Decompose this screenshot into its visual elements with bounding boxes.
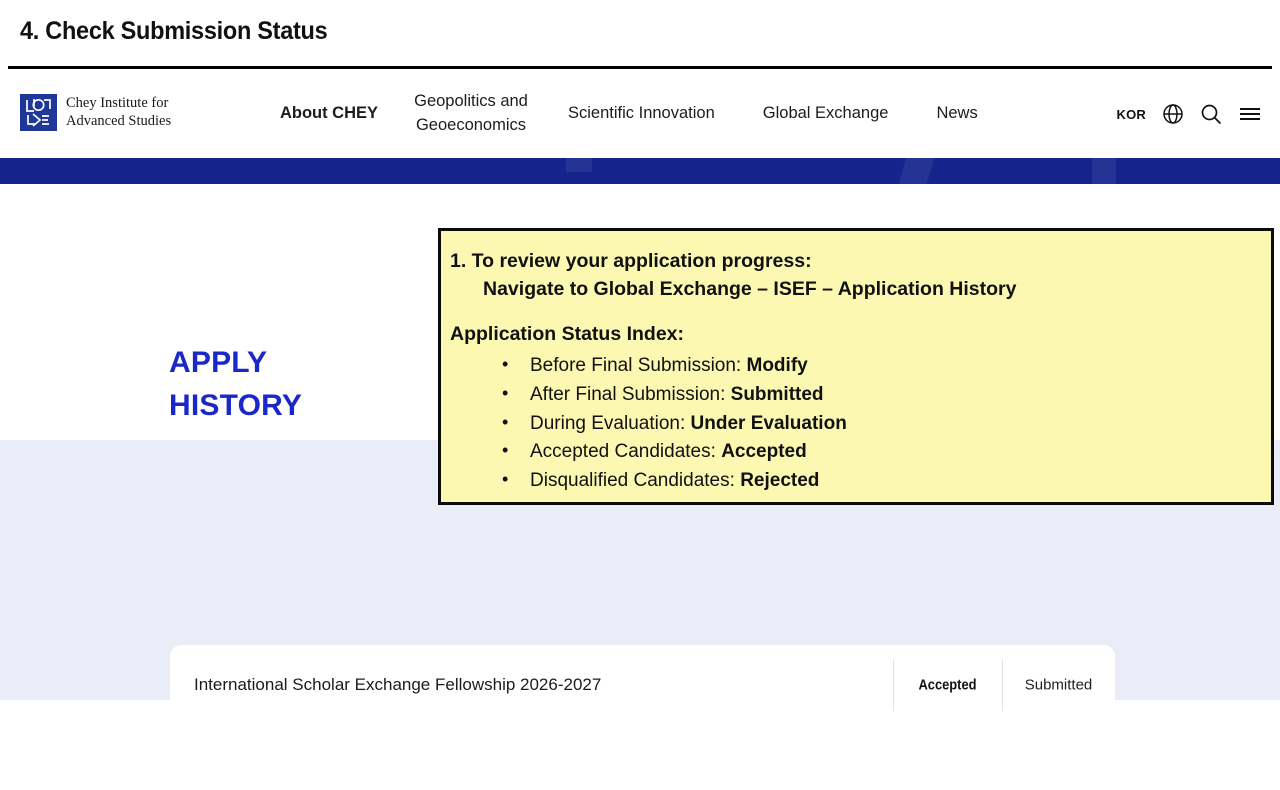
nav-item-scientific-innovation[interactable]: Scientific Innovation [568, 102, 715, 126]
application-title: International Scholar Exchange Fellowshi… [194, 675, 601, 695]
nav-item-news[interactable]: News [936, 102, 977, 126]
search-icon[interactable] [1200, 103, 1222, 125]
apply-history-line1: APPLY [169, 342, 302, 385]
page-title: 4. Check Submission Status [20, 17, 327, 46]
status-value: Submitted [731, 384, 824, 405]
list-item: Accepted Candidates: Accepted [502, 438, 1271, 467]
callout-step-line1: 1. To review your application progress: [450, 248, 1271, 276]
status-label: Before Final Submission: [530, 355, 747, 376]
slide-header: 4. Check Submission Status [0, 0, 1280, 68]
status-label: After Final Submission: [530, 384, 731, 405]
hamburger-menu-icon[interactable] [1238, 104, 1262, 124]
globe-icon[interactable] [1162, 103, 1184, 125]
status-label: Disqualified Candidates: [530, 470, 740, 491]
status-value: Under Evaluation [691, 413, 847, 434]
application-card[interactable]: International Scholar Exchange Fellowshi… [170, 645, 1115, 725]
page-bottom-strip [0, 770, 1280, 790]
status-value: Modify [747, 355, 808, 376]
nav-item-about-chey[interactable]: About CHEY [270, 102, 388, 126]
nav-item-geopolitics-and-geoeconomics[interactable]: Geopolitics and Geoeconomics [412, 90, 530, 138]
banner-shape [1092, 158, 1116, 184]
brand-name-line2: Advanced Studies [66, 113, 171, 130]
language-toggle-label[interactable]: KOR [1117, 107, 1147, 122]
primary-nav: About CHEY Geopolitics and Geoeconomics … [270, 70, 978, 158]
status-value: Rejected [740, 470, 819, 491]
banner-shape [898, 158, 936, 184]
status-label: Accepted Candidates: [530, 441, 721, 462]
card-divider [893, 659, 894, 711]
callout-step-line2: Navigate to Global Exchange – ISEF – App… [450, 276, 1271, 304]
status-label: During Evaluation: [530, 413, 691, 434]
status-badge: Submitted [1002, 677, 1115, 694]
callout-index-heading: Application Status Index: [450, 323, 1271, 346]
status-annotation-accepted: Accepted [901, 677, 995, 694]
status-value: Accepted [721, 441, 807, 462]
list-item: Before Final Submission: Modify [502, 352, 1271, 381]
nav-item-global-exchange[interactable]: Global Exchange [763, 102, 889, 126]
apply-history-line2: HISTORY [169, 385, 302, 428]
title-divider [8, 66, 1272, 69]
list-item: Disqualified Candidates: Rejected [502, 467, 1271, 496]
brand-name-line1: Chey Institute for [66, 95, 171, 112]
list-item: After Final Submission: Submitted [502, 381, 1271, 410]
brand-logo[interactable]: Chey Institute for Advanced Studies [20, 94, 171, 131]
nav-utilities: KOR [1117, 70, 1263, 158]
brand-name: Chey Institute for Advanced Studies [66, 95, 171, 129]
status-index-list: Before Final Submission: Modify After Fi… [450, 352, 1271, 495]
site-navbar: Chey Institute for Advanced Studies Abou… [0, 70, 1280, 158]
list-item: During Evaluation: Under Evaluation [502, 410, 1271, 439]
hero-banner [0, 158, 1280, 184]
instruction-callout: 1. To review your application progress: … [438, 228, 1274, 505]
apply-history-heading: APPLY HISTORY [169, 342, 302, 427]
banner-shape [566, 158, 592, 172]
chey-logo-mark-icon [20, 94, 57, 131]
